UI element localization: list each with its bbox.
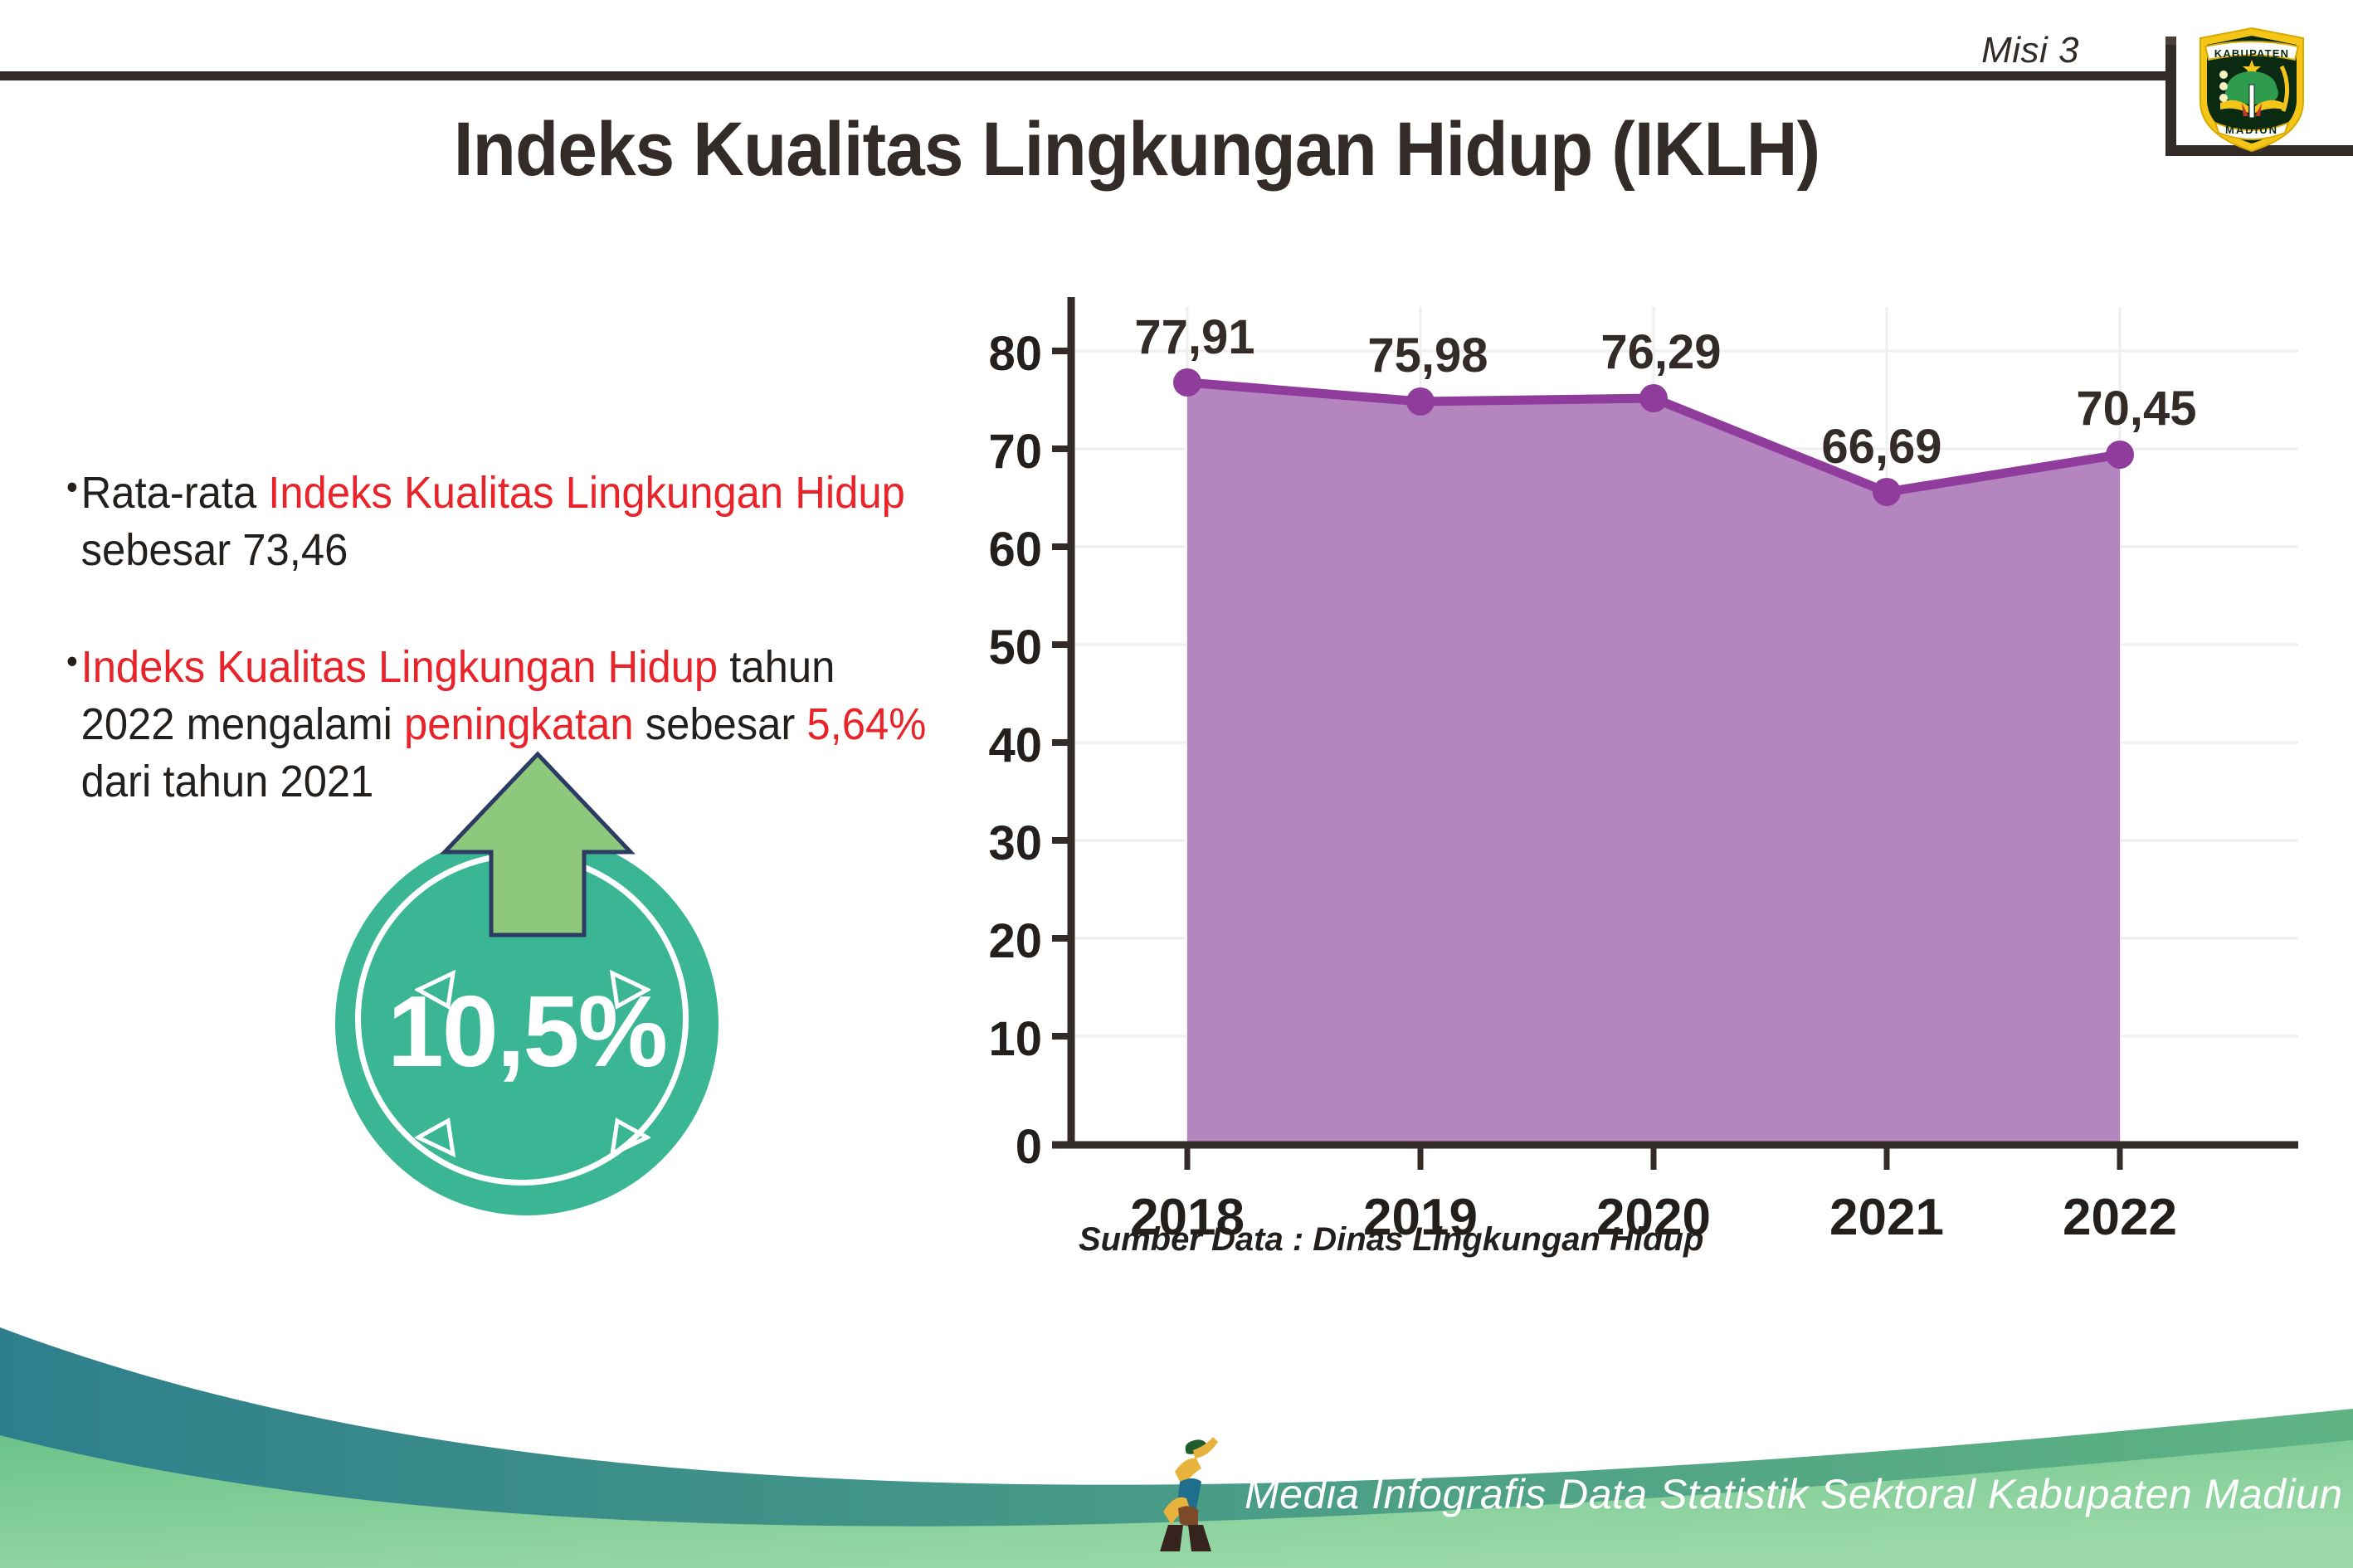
y-tick-50: 50 [988,621,1042,674]
y-tick-0: 0 [1016,1120,1042,1174]
y-tick-20: 20 [988,914,1042,968]
y-tick-80: 80 [988,327,1042,381]
x-tick-2021: 2021 [1829,1189,1944,1246]
b2-seg-4: 5,64% [806,699,926,749]
y-tick-10: 10 [988,1012,1042,1066]
increase-badge: 10,5% [324,751,755,1215]
chart-area-fill [1187,382,2120,1145]
b2-seg-3: sebesar [634,699,807,749]
statistics-person-logo-icon [1147,1432,1238,1555]
point-label-2020: 76,29 [1600,325,1721,379]
insight-bullet-1-text: Rata-rata Indeks Kualitas Lingkungan Hid… [81,465,933,579]
point-label-2019: 75,98 [1367,329,1488,382]
point-label-2022: 70,45 [2076,382,2196,436]
svg-text:KABUPATEN: KABUPATEN [2214,47,2289,60]
badge-percent-value: 10,5% [335,973,719,1089]
y-tick-30: 30 [988,816,1042,870]
insight-bullet-1: • Rata-rata Indeks Kualitas Lingkungan H… [66,465,932,579]
y-tick-60: 60 [988,523,1042,577]
b2-seg-0: Indeks Kualitas Lingkungan Hidup [81,642,719,692]
svg-text:MADIUN: MADIUN [2225,124,2278,136]
mission-label: Misi 3 [1981,30,2079,71]
kabupaten-madiun-emblem-icon: KABUPATEN MADIUN [2190,23,2313,156]
chart-y-tick-labels: 80 70 60 50 40 30 20 10 0 [988,327,1042,1174]
chart-source-note: Sumber Data : Dinas Lingkungan Hidup [1079,1221,1703,1259]
badge-arrow-br-icon [607,1116,650,1159]
bullet-dot-icon: • [66,639,78,684]
badge-arrow-bl-icon [415,1116,458,1159]
y-tick-70: 70 [988,425,1042,479]
iklh-area-chart: 77,91 75,98 76,29 66,69 70,45 80 [954,274,2298,1269]
point-label-2021: 66,69 [1821,420,1941,474]
b2-seg-2: peningkatan [404,699,634,749]
page-title: Indeks Kualitas Lingkungan Hidup (IKLH) [80,106,2194,193]
chart-canvas: 77,91 75,98 76,29 66,69 70,45 80 [954,274,2298,1269]
b1-seg-1: Indeks Kualitas Lingkungan Hidup [268,468,905,518]
up-arrow-icon [438,751,637,950]
b1-seg-2: sebesar 73,46 [81,525,348,575]
x-tick-2022: 2022 [2063,1189,2177,1246]
footer-caption: Media Infografis Data Statistik Sektoral… [1245,1470,2353,1518]
header-divider-rule [0,71,2171,80]
bullet-dot-icon: • [66,465,78,509]
y-tick-40: 40 [988,718,1042,772]
point-label-2018: 77,91 [1134,310,1254,364]
b1-seg-0: Rata-rata [81,468,269,518]
